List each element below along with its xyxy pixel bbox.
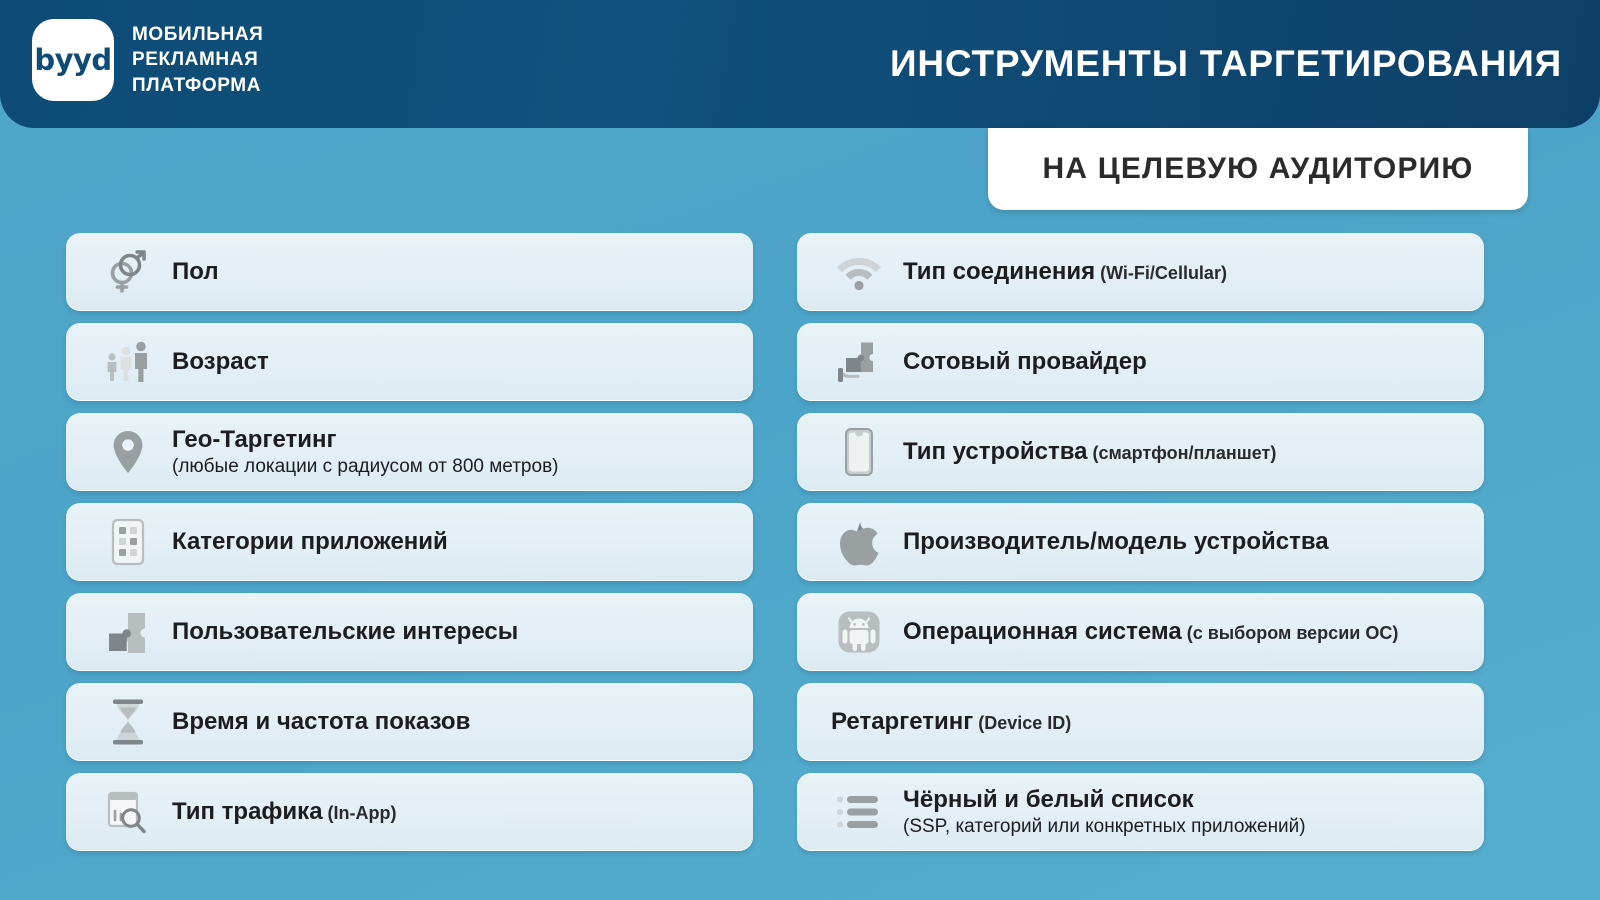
targeting-card: Операционная система (с выбором версии О… <box>797 593 1484 671</box>
targeting-card: Категории приложений <box>66 503 753 581</box>
byyd-logo: byyd <box>32 19 114 101</box>
subtitle-text: НА ЦЕЛЕВУЮ АУДИТОРИЮ <box>1042 152 1473 186</box>
card-title: Время и частота показов <box>172 708 470 736</box>
card-title: Сотовый провайдер <box>903 348 1147 376</box>
subtitle-banner: НА ЦЕЛЕВУЮ АУДИТОРИЮ <box>988 128 1528 210</box>
logo-wordmark: byyd <box>34 46 111 75</box>
card-title: Ретаргетинг (Device ID) <box>831 708 1071 736</box>
card-title: Чёрный и белый список <box>903 786 1306 814</box>
card-text-block: Категории приложений <box>172 528 448 556</box>
card-text-block: Пол <box>172 258 219 286</box>
map-pin-icon <box>100 427 156 477</box>
page-title: ИНСТРУМЕНТЫ ТАРГЕТИРОВАНИЯ <box>890 0 1562 128</box>
brand-tagline-line-1: МОБИЛЬНАЯ <box>132 22 263 47</box>
left-column: Пол Возраст Гео-Таргетинг(любые локации … <box>66 233 753 851</box>
card-title-note: (с выбором версии ОС) <box>1182 623 1399 643</box>
card-subtitle: (SSP, категорий или конкретных приложени… <box>903 816 1306 838</box>
targeting-card: Производитель/модель устройства <box>797 503 1484 581</box>
card-title: Категории приложений <box>172 528 448 556</box>
card-title-note: (смартфон/планшет) <box>1087 443 1276 463</box>
targeting-card: Тип устройства (смартфон/планшет) <box>797 413 1484 491</box>
card-text-block: Ретаргетинг (Device ID) <box>831 708 1071 736</box>
card-text-block: Чёрный и белый список(SSP, категорий или… <box>903 786 1306 839</box>
targeting-card: Гео-Таргетинг(любые локации с радиусом о… <box>66 413 753 491</box>
apple-icon <box>831 517 887 567</box>
card-text-block: Гео-Таргетинг(любые локации с радиусом о… <box>172 426 559 479</box>
targeting-card: Возраст <box>66 323 753 401</box>
card-text-block: Операционная система (с выбором версии О… <box>903 618 1398 646</box>
brand-block: byyd МОБИЛЬНАЯ РЕКЛАМНАЯ ПЛАТФОРМА <box>32 19 263 101</box>
card-title: Гео-Таргетинг <box>172 426 559 454</box>
right-column: Тип соединения (Wi-Fi/Cellular) Сотовый … <box>797 233 1484 851</box>
card-title: Пол <box>172 258 219 286</box>
card-title: Операционная система (с выбором версии О… <box>903 618 1398 646</box>
card-text-block: Возраст <box>172 348 269 376</box>
targeting-card: Пол <box>66 233 753 311</box>
app-grid-phone-icon <box>100 517 156 567</box>
card-text-block: Тип соединения (Wi-Fi/Cellular) <box>903 258 1227 286</box>
targeting-card: Тип соединения (Wi-Fi/Cellular) <box>797 233 1484 311</box>
brand-tagline-line-3: ПЛАТФОРМА <box>132 73 263 98</box>
card-title: Пользовательские интересы <box>172 618 518 646</box>
targeting-card: Сотовый провайдер <box>797 323 1484 401</box>
traffic-search-icon <box>100 787 156 837</box>
card-text-block: Время и частота показов <box>172 708 470 736</box>
people-ages-icon <box>100 337 156 387</box>
card-title-note: (In-App) <box>323 803 397 823</box>
puzzle-icon <box>100 607 156 657</box>
card-text-block: Пользовательские интересы <box>172 618 518 646</box>
card-title: Производитель/модель устройства <box>903 528 1329 556</box>
brand-tagline: МОБИЛЬНАЯ РЕКЛАМНАЯ ПЛАТФОРМА <box>132 22 263 98</box>
smartphone-icon <box>831 427 887 477</box>
card-title: Тип устройства (смартфон/планшет) <box>903 438 1276 466</box>
brand-tagline-line-2: РЕКЛАМНАЯ <box>132 47 263 72</box>
card-title: Тип трафика (In-App) <box>172 798 397 826</box>
card-text-block: Тип трафика (In-App) <box>172 798 397 826</box>
card-title: Тип соединения (Wi-Fi/Cellular) <box>903 258 1227 286</box>
card-title-note: (Device ID) <box>973 713 1071 733</box>
hourglass-icon <box>100 697 156 747</box>
list-icon <box>831 787 887 837</box>
wifi-icon <box>831 247 887 297</box>
card-title: Возраст <box>172 348 269 376</box>
card-text-block: Тип устройства (смартфон/планшет) <box>903 438 1276 466</box>
targeting-tools-grid: Пол Возраст Гео-Таргетинг(любые локации … <box>0 233 1600 851</box>
card-subtitle: (любые локации с радиусом от 800 метров) <box>172 456 559 478</box>
targeting-card: Ретаргетинг (Device ID) <box>797 683 1484 761</box>
targeting-card: Время и частота показов <box>66 683 753 761</box>
gender-icon <box>100 247 156 297</box>
card-text-block: Сотовый провайдер <box>903 348 1147 376</box>
page-header: byyd МОБИЛЬНАЯ РЕКЛАМНАЯ ПЛАТФОРМА ИНСТР… <box>0 0 1600 128</box>
card-text-block: Производитель/модель устройства <box>903 528 1329 556</box>
targeting-card: Тип трафика (In-App) <box>66 773 753 851</box>
targeting-card: Чёрный и белый список(SSP, категорий или… <box>797 773 1484 851</box>
android-os-icon <box>831 607 887 657</box>
card-title-note: (Wi-Fi/Cellular) <box>1095 263 1227 283</box>
targeting-card: Пользовательские интересы <box>66 593 753 671</box>
cellular-provider-icon <box>831 337 887 387</box>
